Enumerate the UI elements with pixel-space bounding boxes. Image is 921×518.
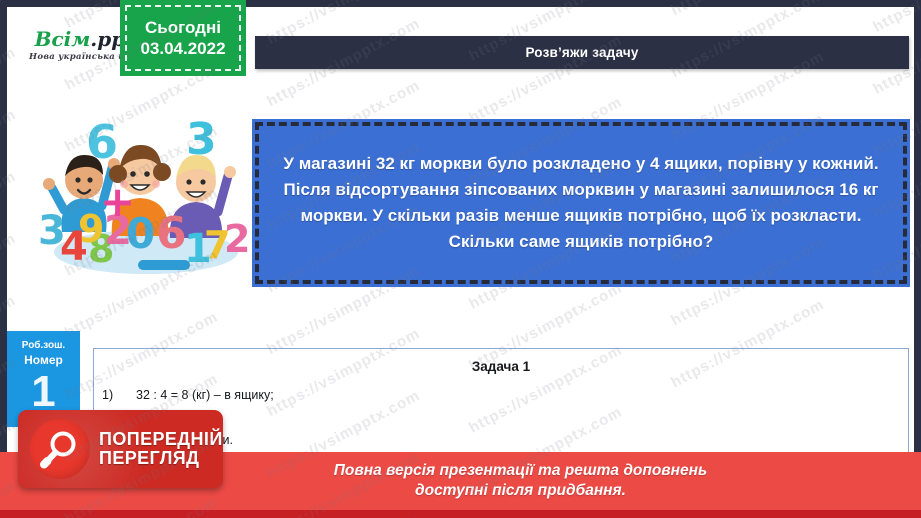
solution-step-number: 1) — [94, 384, 136, 406]
page-title: Розв’яжи задачу — [525, 45, 638, 60]
purchase-notice-line2: доступні після придбання. — [295, 481, 626, 501]
solution-title: Задача 1 — [94, 359, 908, 374]
preview-watermark-badge: ПОПЕРЕДНІЙ ПЕРЕГЛЯД — [18, 410, 223, 488]
slide-title-bar: Розв’яжи задачу — [255, 36, 909, 69]
today-date-badge: Сьогодні 03.04.2022 — [120, 0, 246, 76]
problem-statement-box: У магазині 32 кг моркви було розкладено … — [252, 119, 910, 287]
svg-text:2: 2 — [224, 217, 250, 261]
solution-step-text: 32 : 4 = 8 (кг) – в ящику; — [136, 384, 908, 406]
today-label: Сьогодні — [145, 17, 221, 38]
purchase-notice-line1: Повна версія презентації та решта доповн… — [214, 461, 707, 481]
bottom-accent-strip — [0, 510, 921, 518]
list-item: 1) 32 : 4 = 8 (кг) – в ящику; — [94, 384, 908, 406]
svg-text:+: + — [100, 177, 135, 226]
solution-step-text: (ящ.) — [136, 406, 908, 428]
preview-badge-line2: ПЕРЕГЛЯД — [99, 449, 223, 468]
preview-badge-line1: ПОПЕРЕДНІЙ — [99, 430, 223, 449]
magnifier-icon — [30, 419, 90, 479]
svg-text:6: 6 — [156, 208, 187, 259]
preview-badge-text: ПОПЕРЕДНІЙ ПЕРЕГЛЯД — [99, 430, 223, 467]
today-date-value: 03.04.2022 — [140, 38, 225, 59]
logo-title-left: Всім — [35, 27, 91, 51]
problem-statement-text: У магазині 32 кг моркви було розкладено … — [252, 151, 910, 254]
workbook-tab-number: 1 — [7, 371, 80, 413]
kids-numbers-illustration: 6 3 — [34, 112, 250, 290]
slide-root: 6 3 — [0, 0, 921, 518]
workbook-tab-line1: Роб.зош. — [7, 339, 80, 352]
solution-step-text: отрібно 2 ящики. — [136, 429, 908, 451]
